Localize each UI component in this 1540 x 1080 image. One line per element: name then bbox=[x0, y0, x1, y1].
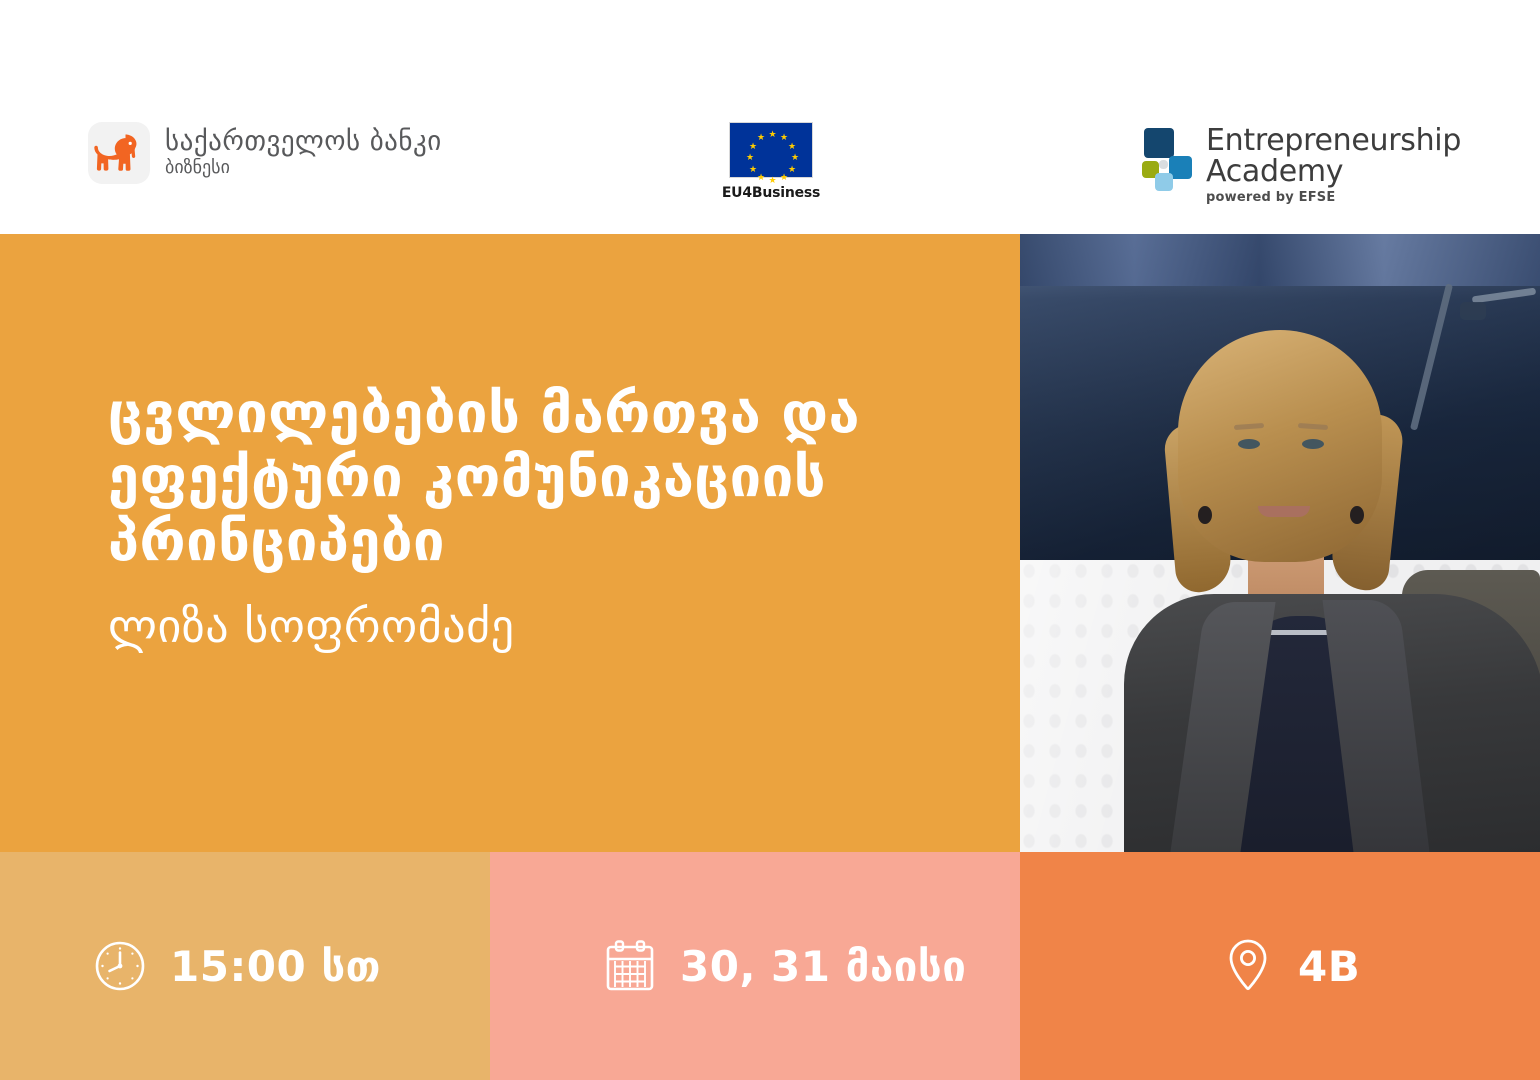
event-title: ცვლილებების მართვა და ეფექტური კომუნიკაც… bbox=[108, 382, 938, 573]
info-band-location: 4B bbox=[1020, 852, 1540, 1080]
logo-bank-of-georgia: საქართველოს ბანკი ბიზნესი bbox=[88, 122, 442, 184]
lion-mark-icon bbox=[88, 122, 150, 184]
eu-flag-icon: ★ ★ ★ ★ ★ ★ ★ ★ ★ ★ ★ ★ bbox=[729, 122, 813, 178]
info-band-time: 15:00 სთ bbox=[0, 852, 490, 1080]
microphone-head-icon bbox=[1460, 302, 1486, 320]
event-date: 30, 31 მაისი bbox=[680, 942, 966, 991]
map-pin-icon bbox=[1220, 938, 1276, 994]
event-poster: საქართველოს ბანკი ბიზნესი ★ ★ ★ ★ ★ ★ ★ … bbox=[0, 0, 1540, 1080]
entrepreneurship-academy-wordmark: Entrepreneurship Academy bbox=[1206, 126, 1461, 187]
speaker-photo bbox=[1020, 234, 1540, 852]
speaker-name: ლიზა სოფრომაძე bbox=[108, 601, 938, 652]
mouth bbox=[1258, 506, 1310, 517]
hair-top bbox=[1178, 330, 1382, 562]
calendar-icon bbox=[602, 938, 658, 994]
ea-line-2: Academy bbox=[1206, 157, 1461, 188]
earring-right bbox=[1350, 506, 1364, 524]
eye-right bbox=[1302, 439, 1324, 449]
bank-of-georgia-subtitle: ბიზნესი bbox=[165, 159, 442, 178]
logo-entrepreneurship-academy: Entrepreneurship Academy powered by EFSE bbox=[1138, 126, 1461, 188]
sponsor-header: საქართველოს ბანკი ბიზნესი ★ ★ ★ ★ ★ ★ ★ … bbox=[0, 0, 1540, 234]
main-panel: ცვლილებების მართვა და ეფექტური კომუნიკაც… bbox=[0, 234, 1020, 852]
info-bands: 15:00 სთ bbox=[0, 852, 1540, 1080]
earring-left bbox=[1198, 506, 1212, 524]
clock-icon bbox=[92, 938, 148, 994]
logo-eu4business: ★ ★ ★ ★ ★ ★ ★ ★ ★ ★ ★ ★ EU4Business bbox=[727, 122, 815, 201]
bank-of-georgia-wordmark: საქართველოს ბანკი ბიზნესი bbox=[165, 128, 442, 177]
info-band-date: 30, 31 მაისი bbox=[490, 852, 1020, 1080]
bank-of-georgia-name: საქართველოს ბანკი bbox=[165, 128, 442, 156]
title-block: ცვლილებების მართვა და ეფექტური კომუნიკაც… bbox=[108, 382, 938, 652]
event-location: 4B bbox=[1298, 942, 1360, 991]
event-time: 15:00 სთ bbox=[170, 942, 381, 991]
eye-left bbox=[1238, 439, 1260, 449]
ea-powered-by: powered by EFSE bbox=[1206, 190, 1335, 205]
studio-signage bbox=[1020, 234, 1540, 286]
squares-mosaic-icon bbox=[1138, 126, 1194, 188]
ea-line-1: Entrepreneurship bbox=[1206, 126, 1461, 157]
eu4business-caption: EU4Business bbox=[722, 185, 820, 201]
